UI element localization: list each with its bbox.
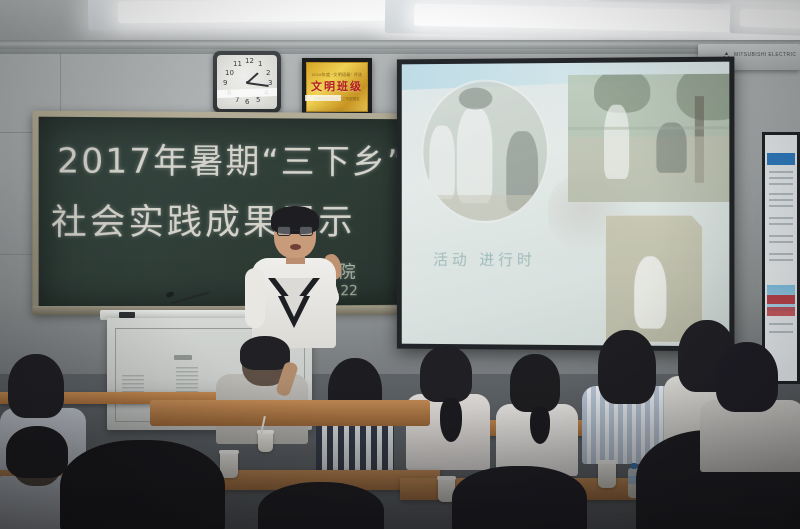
presenter-left-arm: [245, 268, 265, 328]
clock-numeral: 5: [256, 96, 260, 104]
slide-title: 活动 进行时: [433, 249, 536, 270]
paper-cup[interactable]: [598, 462, 616, 488]
classroom-scene: 12 1 2 3 4 5 6 7 8 9 10 11 2016年度 “文明班级”…: [0, 0, 800, 529]
tshirt-triangle-graphic: [268, 278, 320, 334]
presenter-mouth: [290, 244, 301, 250]
blackboard: 2017年暑期“三下乡” 社会实践成果展示 学院 .22: [32, 111, 417, 314]
blackboard-line-1: 2017年暑期“三下乡”: [57, 133, 406, 183]
slide-surface: 活动 进行时: [402, 62, 730, 347]
slide-photo-oval: [421, 79, 549, 223]
clock-numeral: 2: [266, 69, 270, 77]
ceiling-light-right: [730, 3, 800, 39]
bench-back: [150, 400, 430, 426]
ac-brand-label: MITSUBISHI ELECTRIC: [734, 52, 796, 58]
clock-minute-hand: [247, 82, 269, 87]
presenter: [246, 206, 346, 346]
plaque-main-text: 文明班级: [311, 78, 363, 94]
clock-numeral: 1: [258, 60, 262, 68]
clock-numeral: 10: [225, 69, 234, 77]
wall-clock: 12 1 2 3 4 5 6 7 8 9 10 11: [213, 51, 281, 113]
paper-cup[interactable]: [258, 432, 273, 452]
clock-center-pin: [246, 81, 249, 84]
clock-numeral: 6: [245, 98, 249, 106]
clock-numeral: 11: [233, 60, 242, 68]
projection-screen[interactable]: 活动 进行时: [397, 57, 735, 352]
student-long-black-hair: [60, 440, 230, 529]
student-white-shirt: [488, 352, 584, 472]
slide-photo-park: [568, 74, 729, 202]
student-right-hand-raised: [700, 330, 800, 470]
student-checkered-strap: [452, 466, 592, 529]
honor-plaque: 2016年度 “文明班级” 评选 文明班级 共青团委员会学生工作部颁发: [302, 58, 372, 116]
clock-face: 12 1 2 3 4 5 6 7 8 9 10 11: [217, 55, 277, 109]
glasses-icon: [277, 226, 313, 236]
clock-numeral: 12: [245, 57, 254, 65]
clock-numeral: 9: [223, 79, 227, 87]
student-front-center: [258, 482, 388, 529]
ceiling-beam: [0, 40, 800, 49]
